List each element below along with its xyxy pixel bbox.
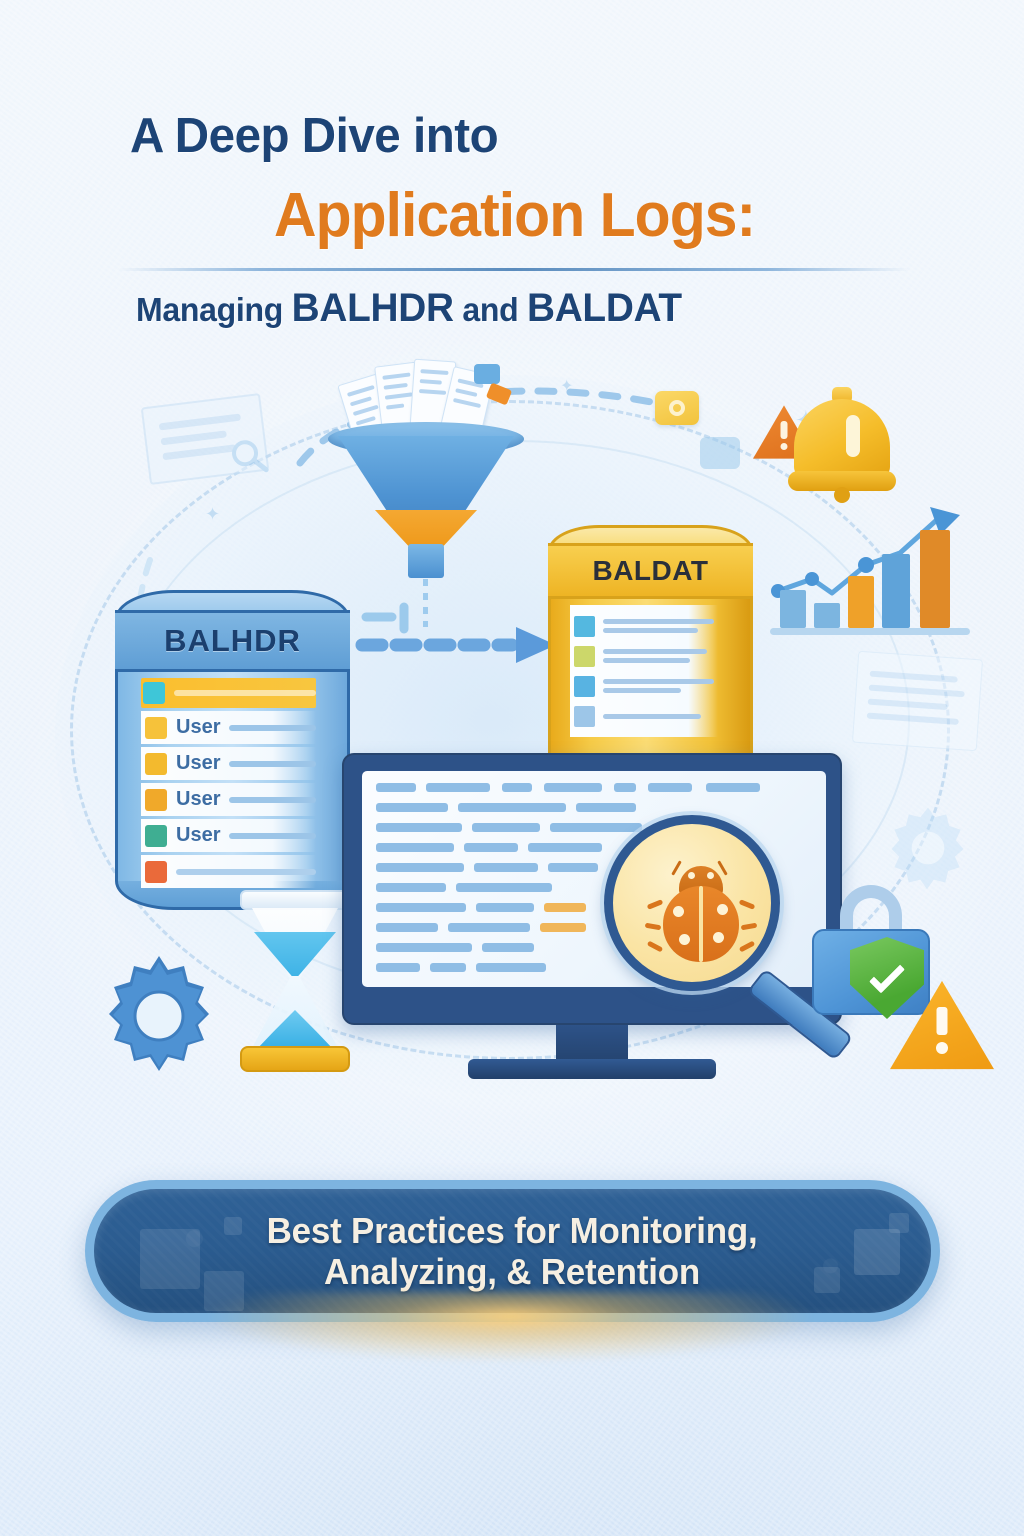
- ghost-badge-icon: [700, 437, 740, 469]
- table-row: [141, 678, 316, 708]
- table-row: User: [141, 747, 316, 780]
- banner-square: [204, 1271, 244, 1311]
- title-line-1: A Deep Dive into: [130, 108, 498, 164]
- row-label: User: [176, 788, 220, 811]
- table-row: [574, 701, 714, 731]
- poster-canvas: A Deep Dive into Application Logs: Manag…: [0, 0, 1024, 1536]
- hourglass-icon: [240, 890, 350, 1080]
- table-row: User: [141, 783, 316, 816]
- balhdr-row-list: User User User User: [141, 678, 316, 891]
- table-row: [574, 611, 714, 641]
- baldat-label: BALDAT: [592, 555, 708, 587]
- subtitle-line: Managing BALHDR and BALDAT: [136, 286, 682, 331]
- row-label: User: [176, 824, 220, 847]
- bar-chart-icon: [770, 495, 970, 635]
- banner-square: [889, 1213, 909, 1233]
- header-divider: [118, 268, 910, 271]
- row-label: User: [176, 752, 220, 775]
- table-row: User: [141, 819, 316, 852]
- bug-magnifier-icon: [604, 815, 802, 1013]
- banner-square: [854, 1229, 900, 1275]
- banner-square: [224, 1217, 242, 1235]
- tagline-banner: Best Practices for Monitoring, Analyzing…: [85, 1180, 940, 1322]
- warning-triangle-icon-large: [890, 977, 994, 1073]
- table-row: [574, 671, 714, 701]
- banner-square: [140, 1229, 200, 1289]
- bug-icon: [651, 858, 751, 966]
- log-tag-blue: [474, 364, 500, 384]
- banner-line-2: Analyzing, & Retention: [267, 1251, 758, 1292]
- title-line-2: Application Logs:: [274, 180, 755, 251]
- illustration-area: ✦ ✦ ✦: [0, 345, 1024, 1135]
- arrow-balhdr-to-baldat: [362, 627, 556, 663]
- banner-line-1: Best Practices for Monitoring,: [267, 1210, 758, 1251]
- subtitle-conjunction: and: [454, 291, 527, 328]
- table-row: User: [141, 711, 316, 744]
- bell-icon: [788, 383, 896, 503]
- baldat-row-list: [570, 605, 718, 737]
- funnel-icon: [318, 360, 533, 595]
- banner-text: Best Practices for Monitoring, Analyzing…: [267, 1210, 758, 1292]
- database-cylinder-balhdr: BALHDR User User User: [115, 590, 350, 910]
- subtitle-db-balhdr: BALHDR: [292, 286, 454, 330]
- subtitle-prefix: Managing: [136, 291, 292, 328]
- table-row: [141, 855, 316, 888]
- subtitle-db-baldat: BALDAT: [527, 286, 682, 330]
- media-badge-icon: [655, 391, 699, 425]
- table-row: [574, 641, 714, 671]
- balhdr-label: BALHDR: [164, 623, 301, 659]
- gear-icon: [95, 950, 223, 1078]
- log-tag-orange: [486, 382, 512, 405]
- row-label: User: [176, 716, 220, 739]
- banner-square: [814, 1267, 840, 1293]
- funnel-drip: [423, 579, 428, 627]
